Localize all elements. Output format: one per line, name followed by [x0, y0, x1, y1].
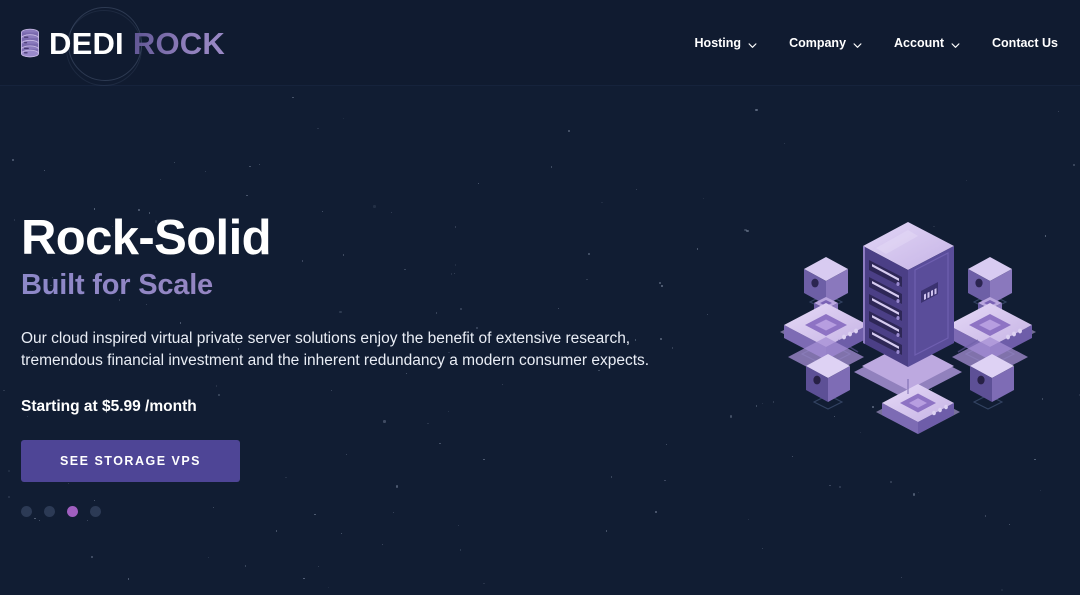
nav-item-hosting[interactable]: Hosting	[679, 30, 774, 56]
logo-text-primary: DEDI	[49, 28, 124, 59]
chevron-down-icon	[748, 39, 757, 48]
nav-item-label: Account	[894, 36, 944, 50]
site-header: DEDI ROCK Hosting Company Account	[0, 0, 1080, 86]
nav-item-account[interactable]: Account	[878, 30, 976, 56]
hero-subheadline: Built for Scale	[21, 270, 701, 302]
hero-body-text: Our cloud inspired virtual private serve…	[21, 328, 681, 373]
main-navigation: Hosting Company Account Contact Us	[679, 0, 1058, 86]
carousel-dots	[21, 506, 701, 517]
hero-copy: Rock-Solid Built for Scale Our cloud ins…	[21, 214, 701, 517]
logo-text-secondary: ROCK	[133, 28, 225, 59]
hero-section: Rock-Solid Built for Scale Our cloud ins…	[0, 86, 1080, 595]
carousel-dot-3[interactable]	[67, 506, 78, 517]
nav-item-label: Hosting	[695, 36, 742, 50]
isometric-server-rack-illustration	[758, 204, 1058, 444]
hero-headline: Rock-Solid	[21, 214, 701, 264]
carousel-dot-1[interactable]	[21, 506, 32, 517]
chevron-down-icon	[853, 39, 862, 48]
nav-item-label: Contact Us	[992, 36, 1058, 50]
logo-text: DEDI ROCK	[49, 28, 225, 59]
hero-price-text: Starting at $5.99 /month	[21, 398, 701, 416]
landing-page: DEDI ROCK Hosting Company Account	[0, 0, 1080, 595]
nav-item-label: Company	[789, 36, 846, 50]
chevron-down-icon	[951, 39, 960, 48]
nav-item-contact-us[interactable]: Contact Us	[976, 30, 1058, 56]
see-storage-vps-button[interactable]: SEE STORAGE VPS	[21, 440, 240, 482]
database-stack-icon	[20, 28, 40, 58]
carousel-dot-2[interactable]	[44, 506, 55, 517]
logo[interactable]: DEDI ROCK	[20, 20, 225, 66]
nav-item-company[interactable]: Company	[773, 30, 878, 56]
carousel-dot-4[interactable]	[90, 506, 101, 517]
